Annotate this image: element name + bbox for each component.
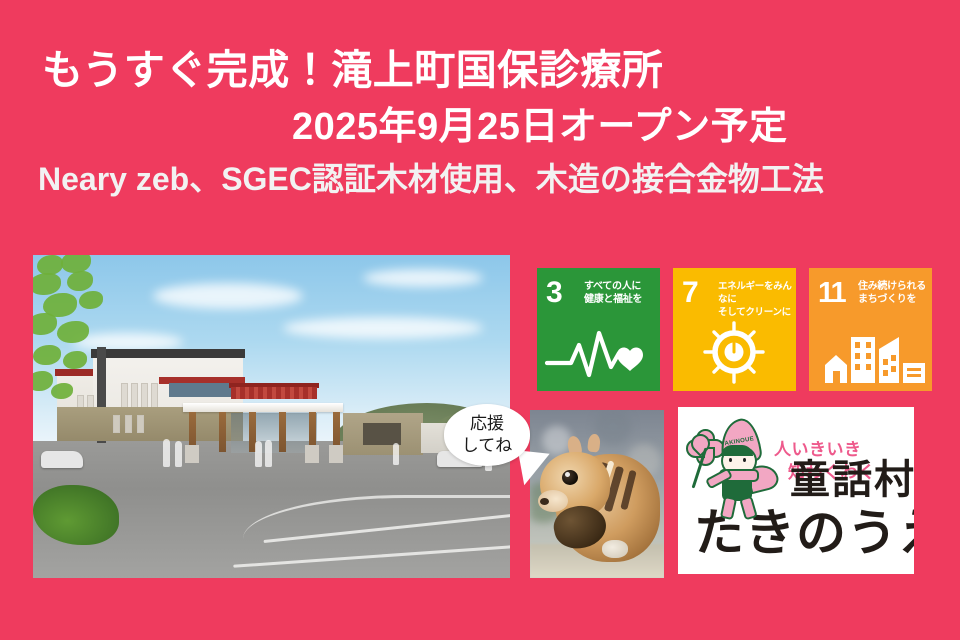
wood-column [279, 412, 286, 452]
sdg-label: 住み続けられる まちづくりを [858, 280, 926, 306]
sun-power-icon [673, 319, 796, 385]
sdg-icon-row: 3 すべての人に 健康と福祉を 7 エネルギーをみんなに そしてクリーンに [537, 268, 932, 391]
sdg-number: 7 [682, 278, 698, 308]
sdg-number: 11 [818, 278, 845, 308]
fairy-eye [729, 458, 732, 462]
cloud [153, 283, 303, 309]
column-base [329, 445, 343, 463]
headline-block: もうすぐ完成！滝上町国保診療所 2025年9月25日オープン予定 Neary z… [0, 46, 960, 199]
entry-roof-red [231, 387, 317, 399]
speech-bubble-line2: してね [462, 435, 513, 457]
cloud [363, 269, 483, 287]
figure-person [255, 441, 262, 467]
figure-person [163, 439, 170, 467]
speech-bubble-tail [514, 450, 549, 487]
town-logo: 人いきいき 知わくわく 童話村 たきのうえ TAKINOUE [678, 407, 914, 574]
building-render-image [33, 255, 510, 578]
column-base [305, 445, 319, 463]
wood-column [219, 412, 226, 452]
column-base [185, 445, 199, 463]
subhead-features: Neary zeb、SGEC認証木材使用、木造の接合金物工法 [0, 159, 960, 199]
sdg-number: 3 [546, 278, 562, 308]
cloud [283, 317, 483, 339]
parked-car [41, 451, 83, 468]
chipmunk-ear [587, 433, 601, 452]
entry-canopy [183, 403, 343, 412]
speech-bubble-line1: 応援 [470, 413, 504, 435]
sdg-goal-3: 3 すべての人に 健康と福祉を [537, 268, 660, 391]
chipmunk-photo [530, 410, 664, 578]
sdg-label: エネルギーをみんなに そしてクリーンに [718, 280, 796, 319]
figure-person [265, 440, 272, 467]
sdg-goal-11: 11 住み続けられる まちづくりを [809, 268, 932, 391]
poster-canvas: もうすぐ完成！滝上町国保診療所 2025年9月25日オープン予定 Neary z… [0, 0, 960, 640]
cityscape-icon [809, 319, 932, 385]
chipmunk-paw [602, 540, 628, 558]
chipmunk-nose [540, 498, 549, 505]
service-entrance [363, 423, 401, 445]
foreground-tree [33, 255, 147, 436]
open-date-title: 2025年9月25日オープン予定 [0, 104, 960, 150]
sdg-label: すべての人に 健康と福祉を [584, 280, 642, 306]
sdg-goal-7: 7 エネルギーをみんなに そしてクリーンに [673, 268, 796, 391]
figure-person [175, 441, 182, 467]
fairy-hair [721, 445, 753, 456]
window-strip [169, 383, 231, 397]
speech-bubble: 応援 してね [444, 404, 530, 466]
mascot-fairy-icon: TAKINOUE [692, 417, 788, 513]
chipmunk-eye-highlight [565, 472, 570, 477]
page-title: もうすぐ完成！滝上町国保診療所 [0, 46, 960, 94]
logo-title-kanji: 童話村 [790, 459, 914, 501]
heartbeat-icon [537, 319, 660, 385]
fairy-eye [743, 458, 746, 462]
figure-person [393, 443, 399, 465]
